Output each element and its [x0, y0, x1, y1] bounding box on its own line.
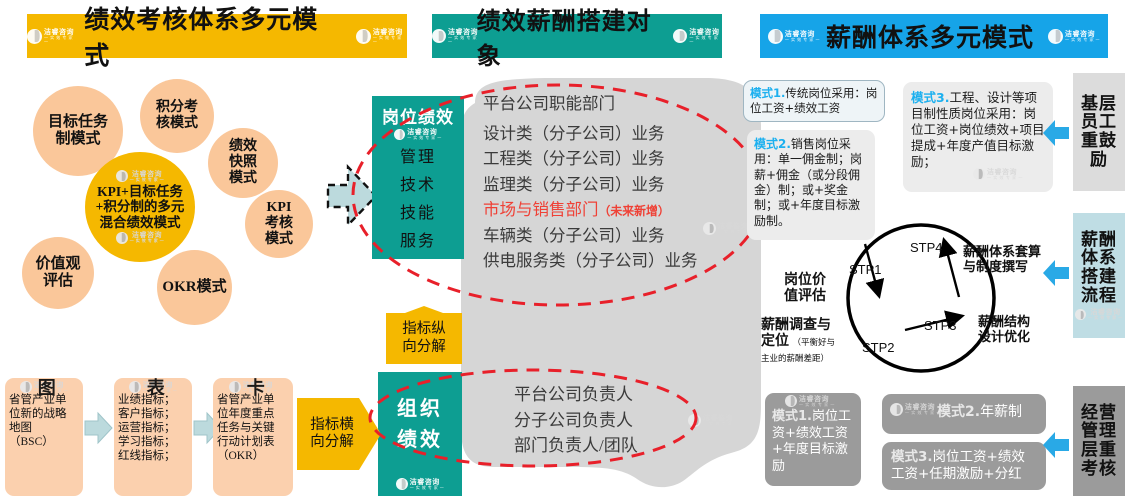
mode-box-project: 模式3.工程、设计等项目制性质岗位采用：岗位工资+岗位绩效+项目提成+年度产值目…: [903, 82, 1053, 192]
circle-hybrid-performance-mode: 洁睿咨询 一 实 效 专 家 一 KPI+目标任务 +积分制的多元 混合绩效模式…: [85, 152, 195, 262]
cycle-label-text: 薪酬结构 设计优化: [978, 314, 1030, 344]
band-management-layer: 经营 管理 层重 考核: [1073, 386, 1125, 496]
band-label: 薪酬 体系 搭建 流程: [1081, 231, 1117, 306]
brand-logo-icon: 洁睿咨询 一 实 效 专 家 一 卡: [229, 381, 278, 393]
mode-box-bottom-tenure: 模式3.岗位工资+绩效工资+任期激励+分红: [882, 442, 1046, 490]
logo-tagline: 一 实 效 专 家 一: [785, 38, 820, 42]
cycle-step-2: STP2: [862, 340, 895, 355]
mode-tag: 模式2.: [937, 404, 980, 420]
logo-tagline: 一 实 效 专 家 一: [689, 36, 722, 44]
brand-logo-icon: 洁睿咨询 一 实 效 专 家 一: [1075, 309, 1123, 320]
flow-arrow-icon-1: [85, 412, 113, 446]
band-compensation-process: 薪酬 体系 搭建 流程 洁睿咨询 一 实 效 专 家 一: [1073, 213, 1125, 338]
mode-tag: 模式1.: [772, 409, 812, 424]
flow-line: 地图: [9, 421, 79, 435]
cycle-label-structure-optimization: 薪酬结构 设计优化: [978, 300, 1058, 345]
cycle-label-job-evaluation: 岗位价 值评估: [772, 257, 838, 305]
flow-line: （OKR）: [217, 449, 289, 463]
cycle-label-salary-survey: 薪酬调查与 定位 （平衡好与 主业的薪酬差距）: [761, 318, 847, 366]
band-frontline-employees: 基层 员工 重鼓 励: [1073, 73, 1125, 191]
band-label: 经营 管理 层重 考核: [1081, 404, 1117, 479]
logo-tagline: 一 实 效 专 家 一: [130, 239, 165, 243]
circle-kpi-appraisal-mode: KPI 考核 模式: [245, 190, 313, 258]
flow-title: 卡: [247, 378, 265, 400]
circle-values-assessment: 价值观 评估: [22, 237, 94, 309]
logo-tagline: 一 实 效 专 家 一: [130, 178, 165, 182]
band-label: 基层 员工 重鼓 励: [1081, 95, 1117, 170]
logo-tagline: 一 实 效 专 家 一: [987, 176, 1023, 180]
brand-logo-icon: 洁睿咨询 一 实 效 专 家 一: [768, 29, 820, 44]
brand-logo-icon: 洁睿咨询 一 实 效 专 家 一: [1048, 29, 1100, 44]
flow-lines: 业绩指标； 客户指标； 运营指标； 学习指标； 红线指标；: [114, 393, 192, 463]
flow-line: 客户指标；: [118, 407, 188, 421]
flow-line: 任务与关键: [217, 421, 289, 435]
flow-line: 位新的战略: [9, 407, 79, 421]
header-performance-appraisal: 洁睿咨询 一 实 效 专 家 一 绩效考核体系多元模式 洁睿咨询 一 实 效 专…: [27, 14, 407, 58]
flow-title: 图: [38, 378, 56, 400]
header-title-1: 绩效考核体系多元模式: [84, 0, 340, 72]
header-compensation-targets: 洁睿咨询 一 实 效 专 家 一 绩效薪酬搭建对象 洁睿咨询 一 实 效 专 家…: [432, 14, 722, 58]
header-title-2: 绩效薪酬搭建对象: [477, 1, 668, 71]
highlight-ellipse-position: [348, 80, 768, 310]
logo-tagline: 一 实 效 专 家 一: [448, 36, 481, 44]
flow-line: 学习指标；: [118, 435, 188, 449]
brand-logo-icon: 洁睿咨询 一 实 效 专 家 一: [116, 232, 165, 244]
highlight-ellipse-organization: [368, 368, 698, 468]
logo-tagline: 一 实 效 专 家 一: [799, 403, 835, 407]
logo-tagline: 一 实 效 专 家 一: [703, 422, 738, 426]
cycle-label-text: 岗位价 值评估: [784, 273, 826, 304]
arrow-left-icon-band1: [1043, 118, 1069, 148]
brand-logo-icon: 洁睿咨询 一 实 效 专 家 一 表: [129, 381, 178, 393]
flow-line: 行动计划表: [217, 435, 289, 449]
cycle-label-system-writing: 薪酬体系套算 与制度撰写: [963, 230, 1055, 275]
tag-vertical-decomposition: 指标纵 向分解: [386, 313, 462, 364]
mode-box-traditional: 模式1.传统岗位采用：岗位工资+绩效工资: [743, 80, 885, 122]
logo-tagline: 一 实 效 专 家 一: [1088, 316, 1123, 320]
flow-line: 红线指标；: [118, 449, 188, 463]
flow-title: 表: [147, 378, 165, 400]
mode-tag: 模式3.: [911, 90, 949, 105]
brand-logo-icon: 洁睿咨询 一 实 效 专 家 一: [432, 29, 481, 44]
header-title-3: 薪酬体系多元模式: [826, 18, 1034, 54]
flow-line: 位年度重点: [217, 407, 289, 421]
brand-logo-icon: 洁睿咨询 一 实 效 专 家 一: [890, 403, 941, 416]
circle-label: 积分考 核模式: [156, 100, 198, 131]
circle-performance-snapshot-mode: 绩效 快照 模式: [208, 128, 278, 198]
cycle-step-1: STP1: [849, 262, 882, 277]
flow-lines: 省管产业单 位新的战略 地图 （BSC）: [5, 393, 83, 449]
logo-tagline: 一 实 效 专 家 一: [410, 486, 445, 490]
circle-main-label: KPI+目标任务 +积分制的多元 混合绩效模式: [96, 184, 185, 229]
circle-okr-mode: OKR模式: [157, 250, 232, 325]
flow-line: （BSC）: [9, 435, 79, 449]
logo-tagline: 一 实 效 专 家 一: [44, 36, 78, 44]
logo-tagline: 一 实 效 专 家 一: [373, 36, 407, 44]
brand-logo-icon: 洁睿咨询 一 实 效 专 家 一: [356, 29, 407, 44]
brand-logo-icon: 洁睿咨询 一 实 效 专 家 一: [785, 395, 835, 407]
brand-logo-icon: 洁睿咨询 一 实 效 专 家 一: [973, 168, 1023, 180]
arrow-left-icon-band2: [1043, 258, 1069, 288]
brand-logo-icon: 洁睿咨询 一 实 效 专 家 一: [27, 29, 78, 44]
cycle-step-3: STP3: [924, 318, 957, 333]
circle-label: 目标任务 制模式: [48, 114, 108, 148]
logo-tagline: 一 实 效 专 家 一: [1065, 38, 1100, 42]
flow-box-bsc: 洁睿咨询 一 实 效 专 家 一 图 省管产业单 位新的战略 地图 （BSC）: [5, 378, 83, 496]
mode-box-bottom-annual: 洁睿咨询 一 实 效 专 家 一 模式2.年薪制: [882, 394, 1046, 434]
brand-logo-icon: 洁睿咨询 一 实 效 专 家 一: [116, 170, 165, 182]
mode-tag: 模式1.: [750, 86, 785, 100]
tag-label: 指标纵 向分解: [402, 321, 446, 356]
mode-box-bottom-base: 洁睿咨询 一 实 效 专 家 一 模式1.岗位工资+绩效工资+年度目标激励: [765, 393, 861, 486]
circle-label: 价值观 评估: [35, 256, 80, 290]
mode-text: 年薪制: [980, 404, 1022, 420]
circle-label: 绩效 快照 模式: [229, 139, 257, 186]
circle-label: OKR模式: [162, 279, 226, 296]
flow-lines: 省管产业单 位年度重点 任务与关键 行动计划表 （OKR）: [213, 393, 293, 463]
mode-tag: 模式2.: [754, 137, 791, 151]
tag-label: 指标横 向分解: [310, 417, 354, 452]
flow-box-indicators: 洁睿咨询 一 实 效 专 家 一 表 业绩指标； 客户指标； 运营指标； 学习指…: [114, 378, 192, 496]
mode-tag: 模式3.: [891, 449, 933, 465]
cycle-label-text: 薪酬体系套算 与制度撰写: [963, 244, 1041, 274]
brand-logo-icon: 洁睿咨询 一 实 效 专 家 一 图: [20, 381, 69, 393]
logo-tagline: 一 实 效 专 家 一: [905, 411, 941, 415]
flow-line: 运营指标；: [118, 421, 188, 435]
flow-box-okr: 洁睿咨询 一 实 效 专 家 一 卡 省管产业单 位年度重点 任务与关键 行动计…: [213, 378, 293, 496]
brand-logo-icon: 洁睿咨询 一 实 效 专 家 一: [396, 478, 445, 490]
header-salary-modes: 洁睿咨询 一 实 效 专 家 一 薪酬体系多元模式 洁睿咨询 一 实 效 专 家…: [760, 14, 1108, 58]
circle-label: KPI 考核 模式: [265, 200, 293, 247]
tag-horizontal-decomposition: 指标横 向分解: [297, 398, 367, 470]
arrow-left-icon-band3: [1043, 430, 1069, 460]
cycle-step-4: STP4: [910, 240, 943, 255]
circle-points-appraisal-mode: 积分考 核模式: [140, 79, 214, 153]
brand-logo-icon: 洁睿咨询 一 实 效 专 家 一: [673, 29, 722, 44]
